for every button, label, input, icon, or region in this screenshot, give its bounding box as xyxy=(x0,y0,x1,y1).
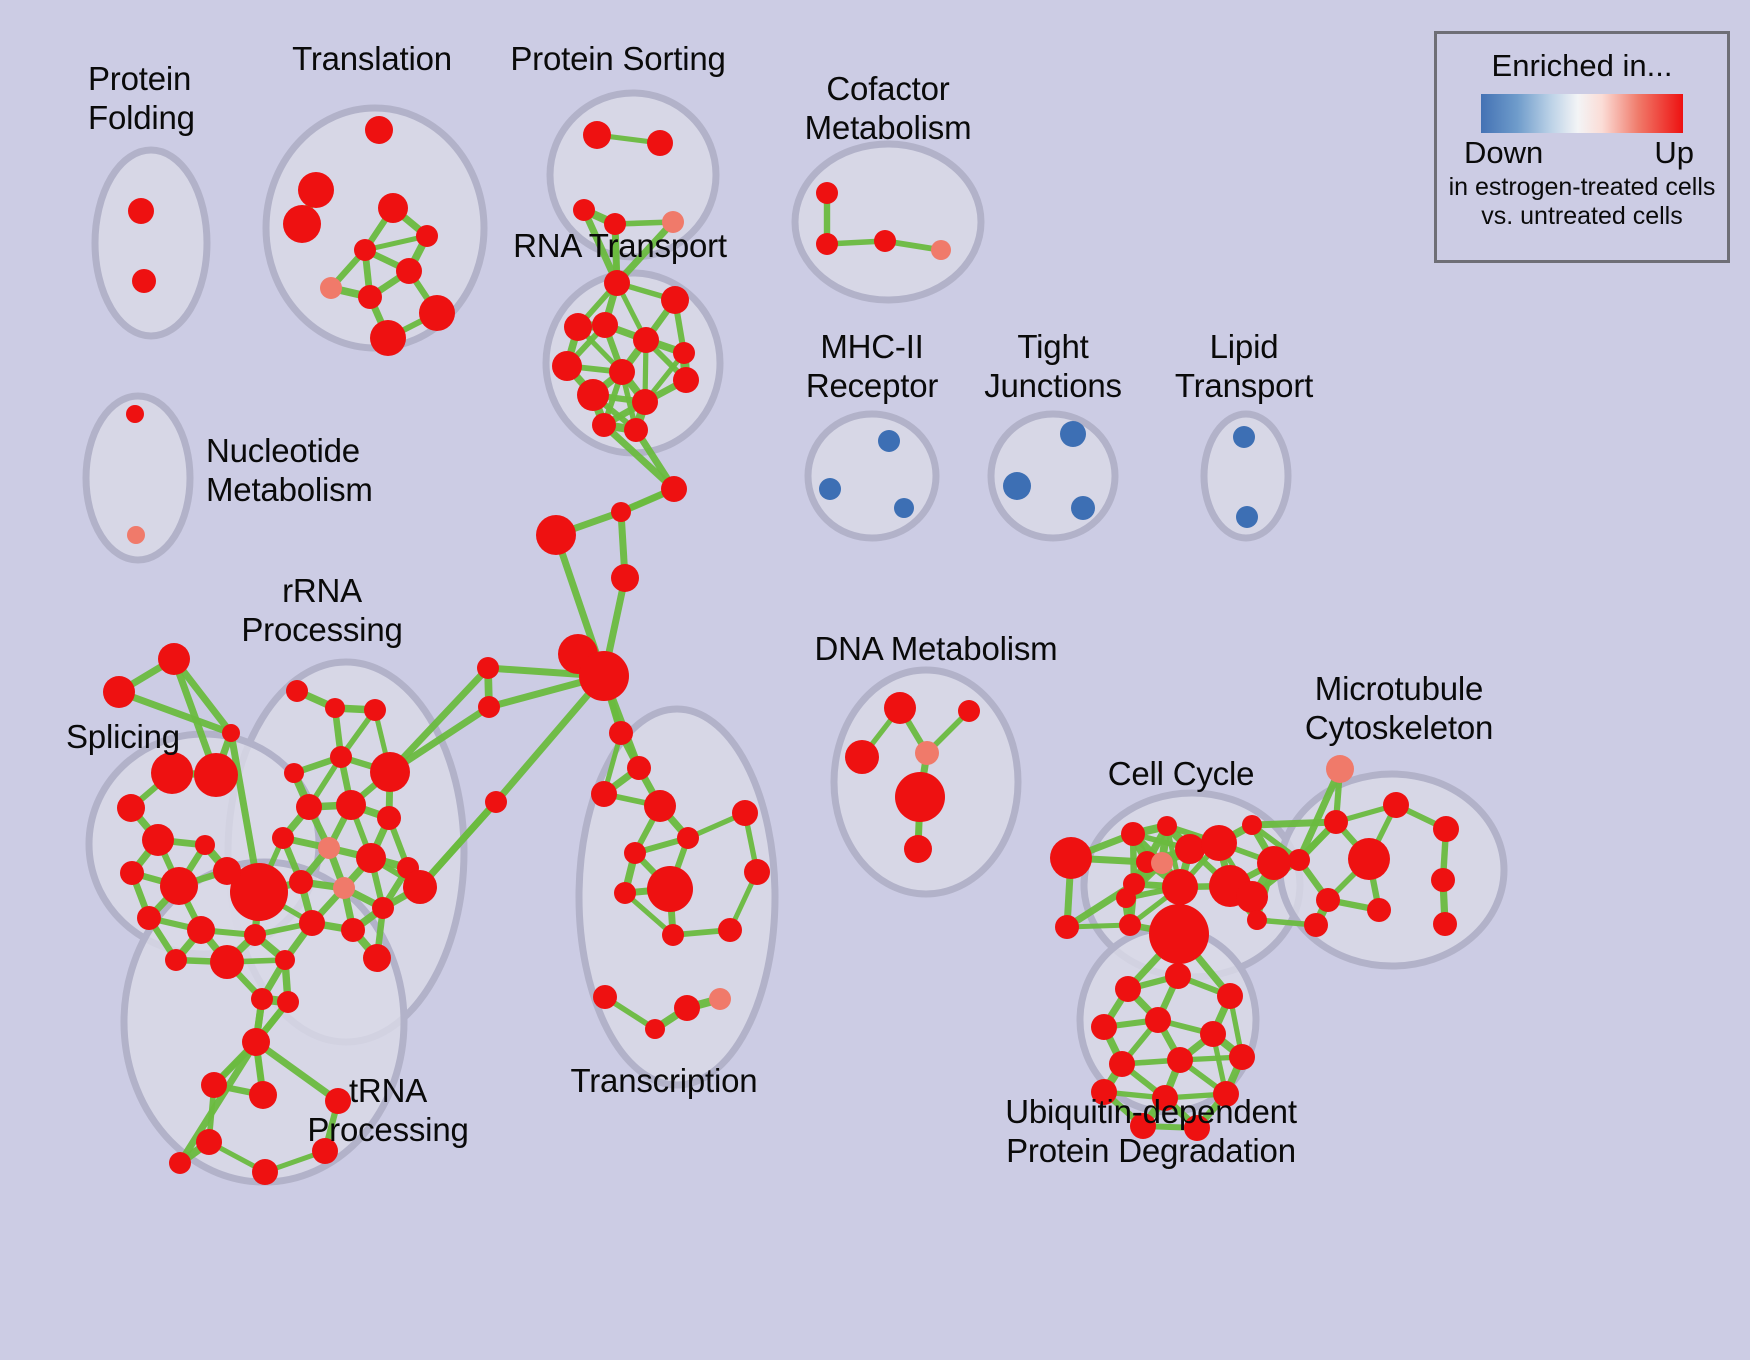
network-node[interactable] xyxy=(1433,912,1457,936)
network-node[interactable] xyxy=(662,924,684,946)
network-node[interactable] xyxy=(592,413,616,437)
cluster-label-tight-junctions: Tight Junctions xyxy=(984,328,1122,406)
network-node[interactable] xyxy=(633,327,659,353)
network-node[interactable] xyxy=(251,988,273,1010)
network-node[interactable] xyxy=(718,918,742,942)
network-node[interactable] xyxy=(611,564,639,592)
network-node[interactable] xyxy=(1151,852,1173,874)
network-node[interactable] xyxy=(1242,815,1262,835)
network-node[interactable] xyxy=(403,870,437,904)
network-node[interactable] xyxy=(201,1072,227,1098)
cluster-label-splicing: Splicing xyxy=(66,718,180,757)
legend-subtitle: in estrogen-treated cells vs. untreated … xyxy=(1437,173,1727,231)
network-node[interactable] xyxy=(1091,1014,1117,1040)
network-node[interactable] xyxy=(904,835,932,863)
network-node[interactable] xyxy=(333,877,355,899)
cluster-ellipse-mhc-ii-receptor[interactable] xyxy=(808,414,936,538)
network-node[interactable] xyxy=(632,389,658,415)
network-node[interactable] xyxy=(286,680,308,702)
network-node[interactable] xyxy=(1149,904,1209,964)
network-node[interactable] xyxy=(816,233,838,255)
network-node[interactable] xyxy=(222,724,240,742)
network-node[interactable] xyxy=(1247,910,1267,930)
network-node[interactable] xyxy=(378,193,408,223)
cluster-label-mhc-ii-receptor: MHC-II Receptor xyxy=(806,328,938,406)
network-node[interactable] xyxy=(194,753,238,797)
network-node[interactable] xyxy=(103,676,135,708)
network-node[interactable] xyxy=(370,752,410,792)
network-node[interactable] xyxy=(647,130,673,156)
network-node[interactable] xyxy=(372,897,394,919)
network-node[interactable] xyxy=(644,790,676,822)
network-node[interactable] xyxy=(577,379,609,411)
network-node[interactable] xyxy=(591,781,617,807)
network-node[interactable] xyxy=(614,882,636,904)
network-node[interactable] xyxy=(1115,976,1141,1002)
network-node[interactable] xyxy=(661,476,687,502)
network-node[interactable] xyxy=(298,172,334,208)
cluster-label-trna-processing: tRNA Processing xyxy=(307,1072,468,1150)
network-edge xyxy=(1252,822,1336,825)
network-node[interactable] xyxy=(296,794,322,820)
network-node[interactable] xyxy=(478,696,500,718)
network-node[interactable] xyxy=(299,910,325,936)
network-node[interactable] xyxy=(593,985,617,1009)
network-node[interactable] xyxy=(249,1081,277,1109)
network-node[interactable] xyxy=(611,502,631,522)
network-node[interactable] xyxy=(661,286,689,314)
network-node[interactable] xyxy=(377,806,401,830)
network-node[interactable] xyxy=(187,916,215,944)
network-node[interactable] xyxy=(564,313,592,341)
cluster-label-dna-metabolism: DNA Metabolism xyxy=(815,630,1058,669)
network-node[interactable] xyxy=(536,515,576,555)
network-node[interactable] xyxy=(244,924,266,946)
network-node[interactable] xyxy=(592,312,618,338)
network-node[interactable] xyxy=(275,950,295,970)
network-node[interactable] xyxy=(673,367,699,393)
network-node[interactable] xyxy=(356,843,386,873)
network-node[interactable] xyxy=(1288,849,1310,871)
network-node[interactable] xyxy=(1233,426,1255,448)
network-node[interactable] xyxy=(272,827,294,849)
network-node[interactable] xyxy=(884,692,916,724)
network-node[interactable] xyxy=(320,277,342,299)
network-node[interactable] xyxy=(1326,755,1354,783)
network-node[interactable] xyxy=(277,991,299,1013)
network-node[interactable] xyxy=(165,949,187,971)
network-node[interactable] xyxy=(325,698,345,718)
cluster-label-nucleotide-metabolism: Nucleotide Metabolism xyxy=(206,432,373,510)
network-node[interactable] xyxy=(242,1028,270,1056)
legend-down-label: Down xyxy=(1464,135,1543,171)
cluster-label-protein-folding: Protein Folding xyxy=(88,60,195,138)
network-node[interactable] xyxy=(819,478,841,500)
cluster-label-cell-cycle: Cell Cycle xyxy=(1108,755,1255,794)
legend-panel: Enriched in... Down Up in estrogen-treat… xyxy=(1434,31,1730,263)
network-node[interactable] xyxy=(160,867,198,905)
enrichment-network-figure: Protein FoldingTranslationProtein Sortin… xyxy=(0,0,1750,1360)
network-node[interactable] xyxy=(416,225,438,247)
network-node[interactable] xyxy=(396,258,422,284)
network-node[interactable] xyxy=(358,285,382,309)
network-node[interactable] xyxy=(1316,888,1340,912)
network-node[interactable] xyxy=(126,405,144,423)
network-node[interactable] xyxy=(845,740,879,774)
network-node[interactable] xyxy=(318,837,340,859)
network-node[interactable] xyxy=(151,752,193,794)
network-node[interactable] xyxy=(1050,837,1092,879)
legend-title: Enriched in... xyxy=(1437,48,1727,84)
cluster-ellipse-protein-folding[interactable] xyxy=(95,150,207,336)
network-node[interactable] xyxy=(1116,888,1136,908)
network-node[interactable] xyxy=(1304,913,1328,937)
network-node[interactable] xyxy=(1167,1047,1193,1073)
network-node[interactable] xyxy=(485,791,507,813)
network-node[interactable] xyxy=(419,295,455,331)
network-node[interactable] xyxy=(1109,1051,1135,1077)
network-node[interactable] xyxy=(1003,472,1031,500)
network-node[interactable] xyxy=(1162,869,1198,905)
network-node[interactable] xyxy=(1121,822,1145,846)
network-node[interactable] xyxy=(552,351,582,381)
network-node[interactable] xyxy=(365,116,393,144)
network-node[interactable] xyxy=(732,800,758,826)
network-node[interactable] xyxy=(336,790,366,820)
cluster-label-rna-transport: RNA Transport xyxy=(513,227,727,266)
network-node[interactable] xyxy=(142,824,174,856)
network-node[interactable] xyxy=(673,342,695,364)
network-node[interactable] xyxy=(1257,846,1291,880)
network-node[interactable] xyxy=(1433,816,1459,842)
network-node[interactable] xyxy=(677,827,699,849)
cluster-ellipse-cofactor-metabolism[interactable] xyxy=(795,144,981,300)
network-node[interactable] xyxy=(169,1152,191,1174)
network-node[interactable] xyxy=(477,657,499,679)
network-node[interactable] xyxy=(127,526,145,544)
network-node[interactable] xyxy=(120,861,144,885)
network-node[interactable] xyxy=(624,418,648,442)
network-node[interactable] xyxy=(1119,914,1141,936)
network-node[interactable] xyxy=(354,239,376,261)
network-node[interactable] xyxy=(1217,983,1243,1009)
network-node[interactable] xyxy=(330,746,352,768)
network-node[interactable] xyxy=(196,1129,222,1155)
network-node[interactable] xyxy=(895,772,945,822)
network-node[interactable] xyxy=(1348,838,1390,880)
network-node[interactable] xyxy=(894,498,914,518)
cluster-label-lipid-transport: Lipid Transport xyxy=(1175,328,1313,406)
network-node[interactable] xyxy=(878,430,900,452)
network-node[interactable] xyxy=(573,199,595,221)
network-node[interactable] xyxy=(1229,1044,1255,1070)
network-node[interactable] xyxy=(128,198,154,224)
network-node[interactable] xyxy=(583,121,611,149)
network-node[interactable] xyxy=(1071,496,1095,520)
network-node[interactable] xyxy=(363,944,391,972)
network-node[interactable] xyxy=(931,240,951,260)
network-node[interactable] xyxy=(213,857,241,885)
network-node[interactable] xyxy=(158,643,190,675)
cluster-label-translation: Translation xyxy=(292,40,452,79)
network-node[interactable] xyxy=(1236,506,1258,528)
network-node[interactable] xyxy=(1060,421,1086,447)
network-node[interactable] xyxy=(1367,898,1391,922)
cluster-label-ubiquitin-protein-degradation: Ubiquitin-dependent Protein Degradation xyxy=(1005,1093,1297,1171)
network-node[interactable] xyxy=(647,866,693,912)
cluster-label-cofactor-metabolism: Cofactor Metabolism xyxy=(805,70,972,148)
network-node[interactable] xyxy=(341,918,365,942)
network-node[interactable] xyxy=(1175,834,1205,864)
legend-color-gradient-bar xyxy=(1481,94,1683,133)
network-node[interactable] xyxy=(604,270,630,296)
network-node[interactable] xyxy=(645,1019,665,1039)
network-node[interactable] xyxy=(1236,881,1268,913)
network-node[interactable] xyxy=(816,182,838,204)
network-node[interactable] xyxy=(958,700,980,722)
legend-up-label: Up xyxy=(1654,135,1694,171)
cluster-label-rrna-processing: rRNA Processing xyxy=(241,572,402,650)
network-node[interactable] xyxy=(364,699,386,721)
network-node[interactable] xyxy=(579,651,629,701)
network-node[interactable] xyxy=(195,835,215,855)
network-node[interactable] xyxy=(1157,816,1177,836)
network-node[interactable] xyxy=(915,741,939,765)
network-node[interactable] xyxy=(609,721,633,745)
cluster-label-protein-sorting: Protein Sorting xyxy=(510,40,725,79)
network-node[interactable] xyxy=(132,269,156,293)
network-node[interactable] xyxy=(137,906,161,930)
network-node[interactable] xyxy=(117,794,145,822)
network-node[interactable] xyxy=(1324,810,1348,834)
network-node[interactable] xyxy=(1200,1021,1226,1047)
network-node[interactable] xyxy=(1431,868,1455,892)
cluster-label-transcription: Transcription xyxy=(571,1062,758,1101)
network-node[interactable] xyxy=(283,205,321,243)
network-node[interactable] xyxy=(1145,1007,1171,1033)
network-node[interactable] xyxy=(252,1159,278,1185)
network-node[interactable] xyxy=(1383,792,1409,818)
network-node[interactable] xyxy=(210,945,244,979)
network-node[interactable] xyxy=(609,359,635,385)
network-node[interactable] xyxy=(624,842,646,864)
network-node[interactable] xyxy=(1055,915,1079,939)
network-node[interactable] xyxy=(674,995,700,1021)
network-node[interactable] xyxy=(874,230,896,252)
network-node[interactable] xyxy=(1201,825,1237,861)
network-node[interactable] xyxy=(709,988,731,1010)
network-node[interactable] xyxy=(744,859,770,885)
network-node[interactable] xyxy=(289,870,313,894)
network-node[interactable] xyxy=(370,320,406,356)
network-node[interactable] xyxy=(284,763,304,783)
network-node[interactable] xyxy=(627,756,651,780)
network-node[interactable] xyxy=(1165,963,1191,989)
cluster-label-microtubule-cytoskeleton: Microtubule Cytoskeleton xyxy=(1305,670,1493,748)
legend-endpoint-labels: Down Up xyxy=(1464,135,1700,173)
